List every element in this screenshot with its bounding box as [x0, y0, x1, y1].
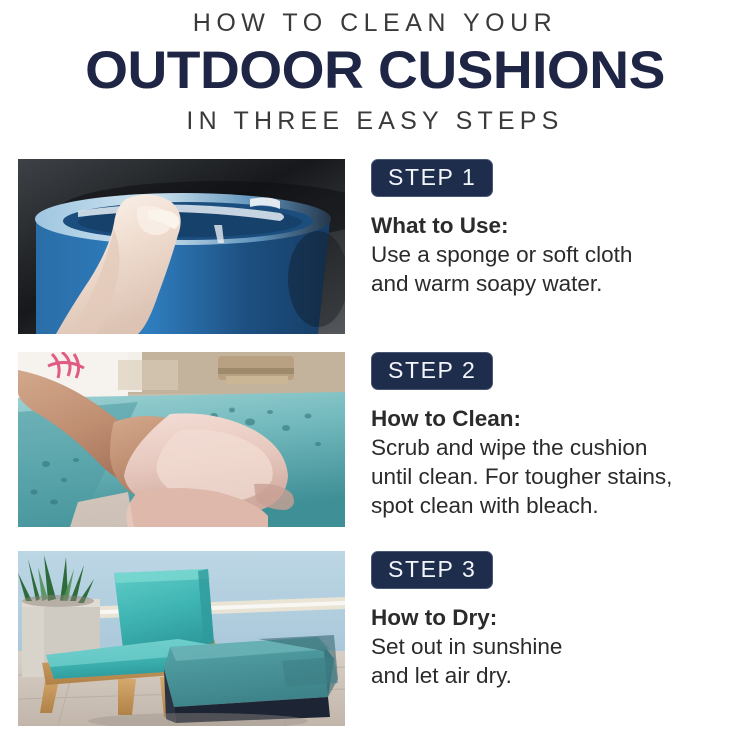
- header-subline: IN THREE EASY STEPS: [0, 106, 750, 136]
- photo-bucket-and-cloth: [18, 159, 345, 334]
- step-heading: How to Clean:: [371, 404, 731, 433]
- status-badge: STEP 2: [371, 352, 493, 390]
- page-title: OUTDOOR CUSHIONS: [0, 42, 750, 100]
- photo-wiping-cushion: [18, 352, 345, 527]
- step-text-block: STEP 1 What to Use: Use a sponge or soft…: [371, 159, 731, 298]
- step-body: How to Clean: Scrub and wipe the cushion…: [371, 404, 731, 520]
- step-heading: How to Dry:: [371, 603, 731, 632]
- step-heading: What to Use:: [371, 211, 731, 240]
- step-text-block: STEP 2 How to Clean: Scrub and wipe the …: [371, 352, 731, 520]
- step-line: Scrub and wipe the cushion: [371, 433, 731, 462]
- header-kicker: HOW TO CLEAN YOUR: [0, 8, 750, 38]
- photo-chaise-drying: [18, 551, 345, 726]
- step-line: Set out in sunshine: [371, 632, 731, 661]
- step-line: Use a sponge or soft cloth: [371, 240, 731, 269]
- step-line: until clean. For tougher stains,: [371, 462, 731, 491]
- step-text-block: STEP 3 How to Dry: Set out in sunshine a…: [371, 551, 731, 690]
- status-badge: STEP 3: [371, 551, 493, 589]
- infographic-header: HOW TO CLEAN YOUR OUTDOOR CUSHIONS IN TH…: [0, 0, 750, 136]
- step-body: What to Use: Use a sponge or soft cloth …: [371, 211, 731, 298]
- status-badge: STEP 1: [371, 159, 493, 197]
- step-line: spot clean with bleach.: [371, 491, 731, 520]
- step-line: and let air dry.: [371, 661, 731, 690]
- step-body: How to Dry: Set out in sunshine and let …: [371, 603, 731, 690]
- step-line: and warm soapy water.: [371, 269, 731, 298]
